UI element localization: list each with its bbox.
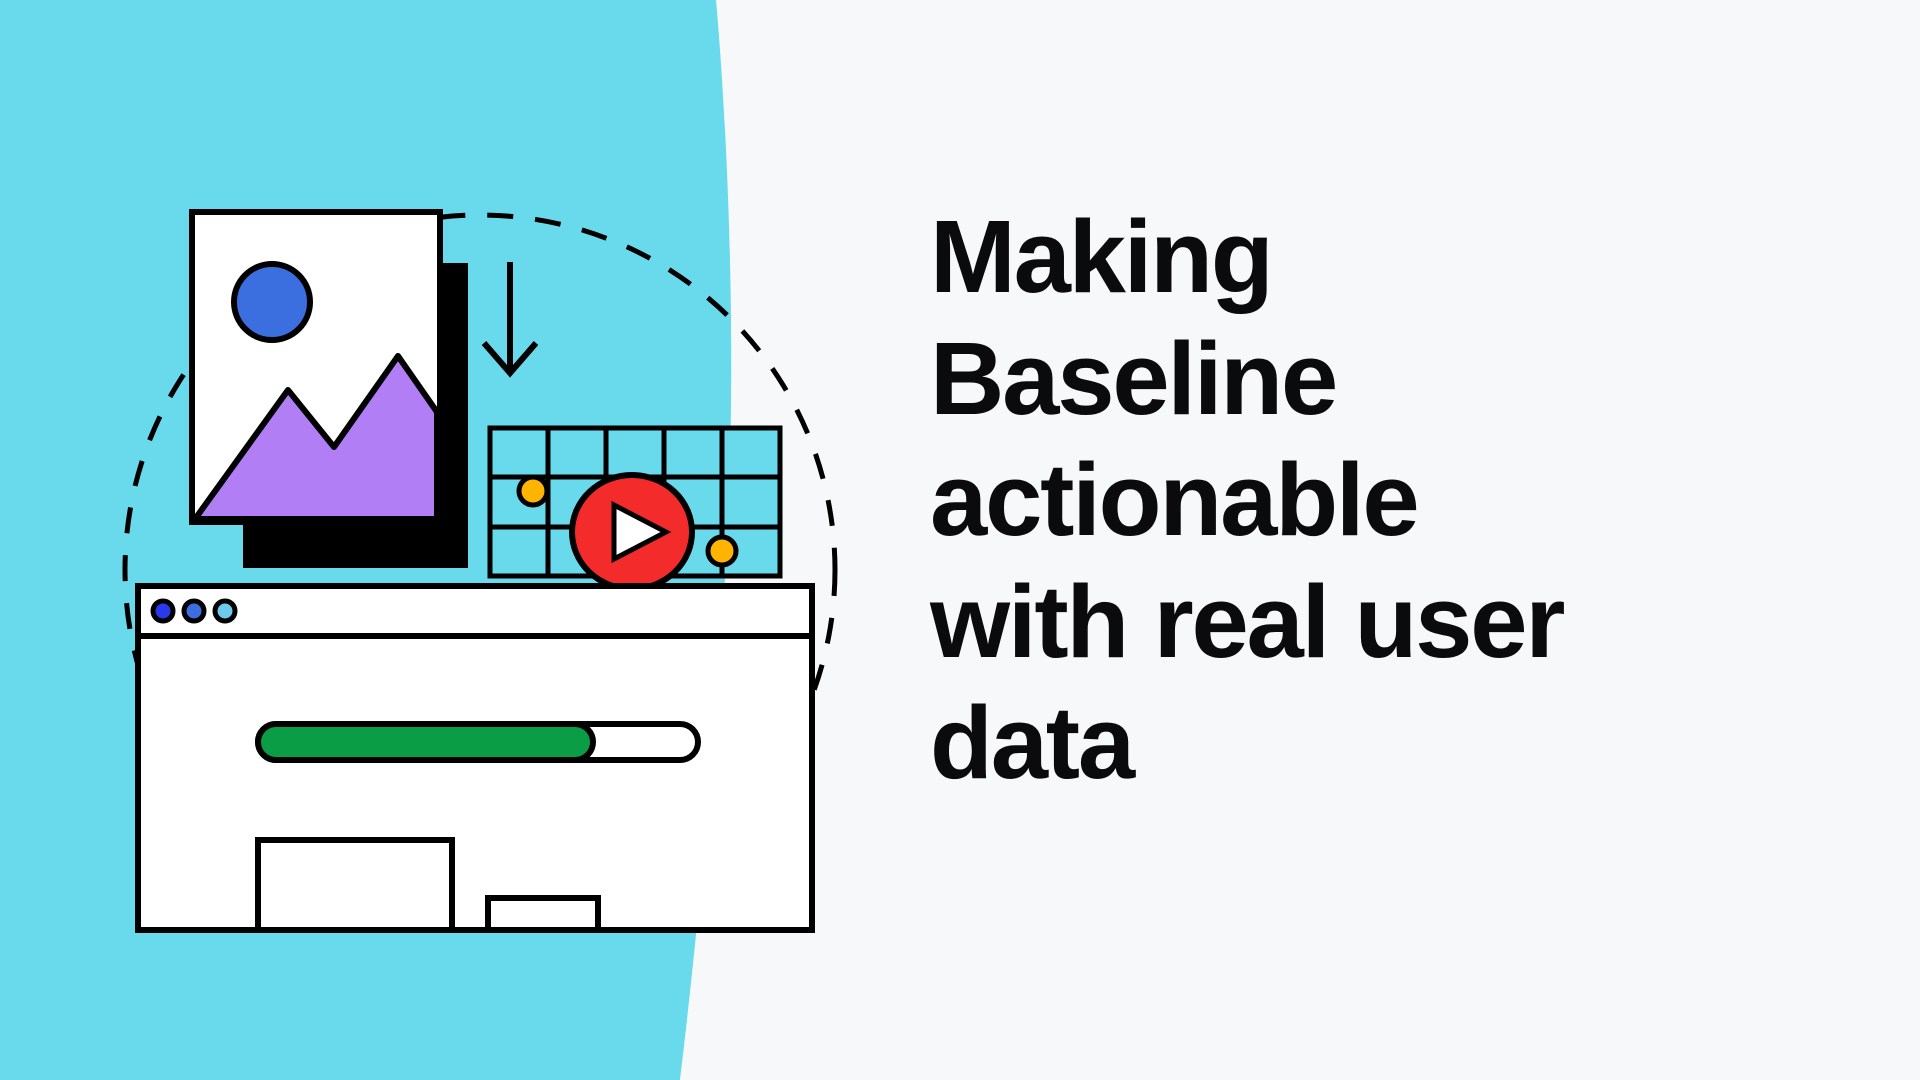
browser-window xyxy=(138,586,812,930)
image-placeholder-card xyxy=(192,212,468,568)
sun-circle-icon xyxy=(234,264,310,340)
hero-banner: Making Baseline actionable with real use… xyxy=(0,0,1920,1080)
traffic-light-maximize-icon[interactable] xyxy=(215,601,235,621)
traffic-light-minimize-icon[interactable] xyxy=(184,601,204,621)
illustration-artwork xyxy=(0,0,900,1080)
page-title: Making Baseline actionable with real use… xyxy=(930,196,1770,804)
content-block-left xyxy=(258,840,452,930)
headline-block: Making Baseline actionable with real use… xyxy=(930,196,1770,804)
loading-progress-fill xyxy=(258,724,593,760)
grid-handle-dot-right[interactable] xyxy=(708,537,736,565)
content-block-right xyxy=(488,898,598,930)
play-button[interactable] xyxy=(572,475,692,589)
download-arrow-icon xyxy=(484,262,536,373)
traffic-light-close-icon[interactable] xyxy=(153,601,173,621)
grid-handle-dot-left[interactable] xyxy=(519,477,547,505)
